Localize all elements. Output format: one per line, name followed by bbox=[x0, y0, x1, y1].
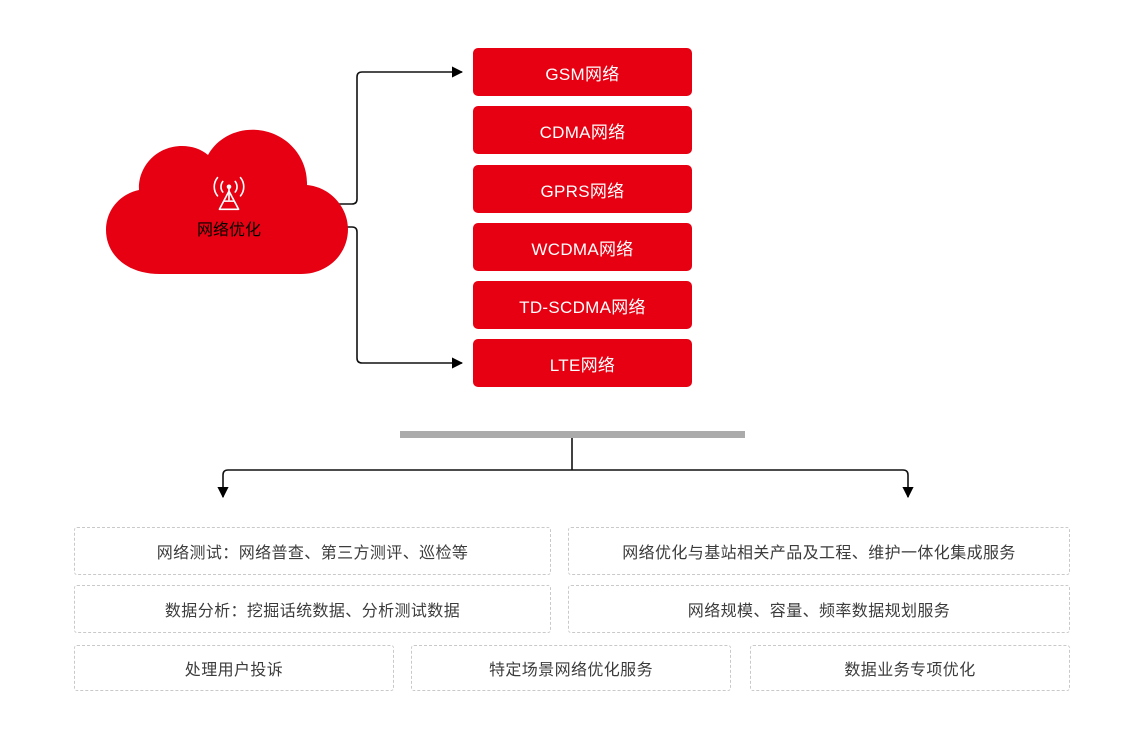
signal-tower-icon bbox=[206, 170, 252, 216]
service-box-network-testing[interactable]: 网络测试：网络普查、第三方测评、巡检等 bbox=[74, 527, 551, 575]
service-box-label: 数据业务专项优化 bbox=[844, 656, 975, 680]
service-box-planning-service[interactable]: 网络规模、容量、频率数据规划服务 bbox=[568, 585, 1070, 633]
service-box-label: 数据分析：挖掘话统数据、分析测试数据 bbox=[165, 597, 460, 621]
network-box-gprs[interactable]: GPRS网络 bbox=[473, 165, 692, 213]
service-box-user-complaints[interactable]: 处理用户投诉 bbox=[74, 645, 394, 691]
network-box-wcdma[interactable]: WCDMA网络 bbox=[473, 223, 692, 271]
network-box-gsm[interactable]: GSM网络 bbox=[473, 48, 692, 96]
cloud-label: 网络优化 bbox=[197, 216, 261, 240]
network-box-label: WCDMA网络 bbox=[531, 235, 633, 260]
connector-split-right bbox=[572, 470, 908, 497]
network-box-lte[interactable]: LTE网络 bbox=[473, 339, 692, 387]
connector-split-left bbox=[223, 470, 572, 497]
service-box-label: 处理用户投诉 bbox=[185, 656, 283, 680]
network-box-cdma[interactable]: CDMA网络 bbox=[473, 106, 692, 154]
service-box-label: 网络优化与基站相关产品及工程、维护一体化集成服务 bbox=[622, 539, 1016, 563]
cloud-content: 网络优化 bbox=[98, 128, 360, 274]
service-box-integration-service[interactable]: 网络优化与基站相关产品及工程、维护一体化集成服务 bbox=[568, 527, 1070, 575]
service-box-label: 网络测试：网络普查、第三方测评、巡检等 bbox=[157, 539, 469, 563]
service-box-label: 特定场景网络优化服务 bbox=[489, 656, 653, 680]
service-box-scenario-optimization[interactable]: 特定场景网络优化服务 bbox=[411, 645, 731, 691]
service-box-data-business-optimization[interactable]: 数据业务专项优化 bbox=[750, 645, 1070, 691]
network-box-label: LTE网络 bbox=[550, 351, 615, 376]
network-box-label: TD-SCDMA网络 bbox=[519, 293, 646, 318]
network-box-label: GPRS网络 bbox=[541, 177, 625, 202]
network-box-label: GSM网络 bbox=[545, 60, 619, 85]
network-box-td-scdma[interactable]: TD-SCDMA网络 bbox=[473, 281, 692, 329]
service-box-label: 网络规模、容量、频率数据规划服务 bbox=[688, 597, 950, 621]
network-box-label: CDMA网络 bbox=[540, 118, 626, 143]
diagram-canvas: 网络优化 GSM网络 CDMA网络 GPRS网络 WCDMA网络 TD-SCDM… bbox=[0, 0, 1145, 735]
section-divider-bar bbox=[400, 431, 745, 438]
service-box-data-analysis[interactable]: 数据分析：挖掘话统数据、分析测试数据 bbox=[74, 585, 551, 633]
center-node-cloud[interactable]: 网络优化 bbox=[98, 128, 360, 274]
